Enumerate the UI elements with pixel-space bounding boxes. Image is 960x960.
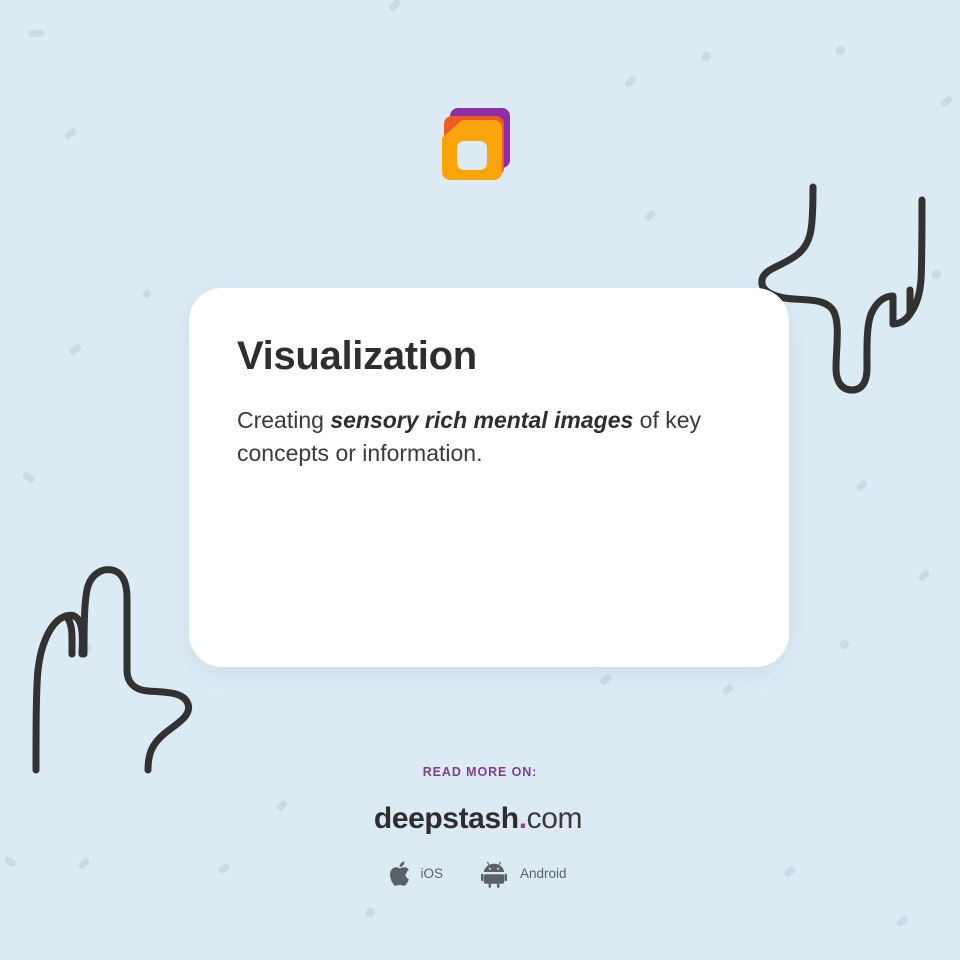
confetti-dash [599, 673, 613, 686]
ios-badge-label: iOS [420, 866, 443, 881]
android-store-badge[interactable]: Android [481, 858, 567, 888]
confetti-dash [21, 471, 36, 484]
hand-pointing-up-icon [22, 558, 210, 786]
store-badges: iOS Android [0, 858, 960, 888]
confetti-dash [939, 95, 953, 109]
deepstash-logo [430, 104, 514, 196]
card-body-lead: Creating [237, 407, 330, 433]
ios-store-badge[interactable]: iOS [387, 859, 443, 888]
confetti-dash [79, 643, 93, 656]
confetti-dash [68, 343, 82, 357]
apple-icon [387, 859, 411, 888]
read-more-label: READ MORE ON: [0, 765, 960, 779]
confetti-dash [855, 479, 869, 492]
confetti-dash [895, 915, 909, 928]
wordmark-brand: deepstash [374, 802, 519, 835]
confetti-dash [721, 683, 734, 696]
confetti-dash [932, 270, 941, 279]
confetti-dash [836, 46, 845, 55]
android-badge-label: Android [520, 866, 567, 881]
content-card: Visualization Creating sensory rich ment… [189, 288, 789, 667]
confetti-dash [643, 209, 657, 222]
footer: READ MORE ON: deepstash.com iOS Android [0, 765, 960, 888]
confetti-dash [387, 0, 401, 13]
confetti-dash [623, 75, 637, 89]
confetti-dash [702, 52, 711, 61]
wordmark-dot: . [519, 802, 527, 835]
confetti-dash [63, 127, 77, 141]
confetti-dash [28, 30, 44, 38]
confetti-dash [840, 640, 849, 649]
card-body-text: Creating sensory rich mental images of k… [237, 404, 737, 471]
site-wordmark[interactable]: deepstash.com [0, 802, 960, 836]
confetti-dash [917, 569, 931, 582]
wordmark-tld: com [527, 802, 582, 835]
confetti-dash [366, 908, 375, 917]
card-body-emphasis: sensory rich mental images [330, 407, 633, 433]
android-icon [481, 858, 511, 888]
confetti-dash [143, 290, 151, 298]
card-title: Visualization [237, 334, 741, 378]
